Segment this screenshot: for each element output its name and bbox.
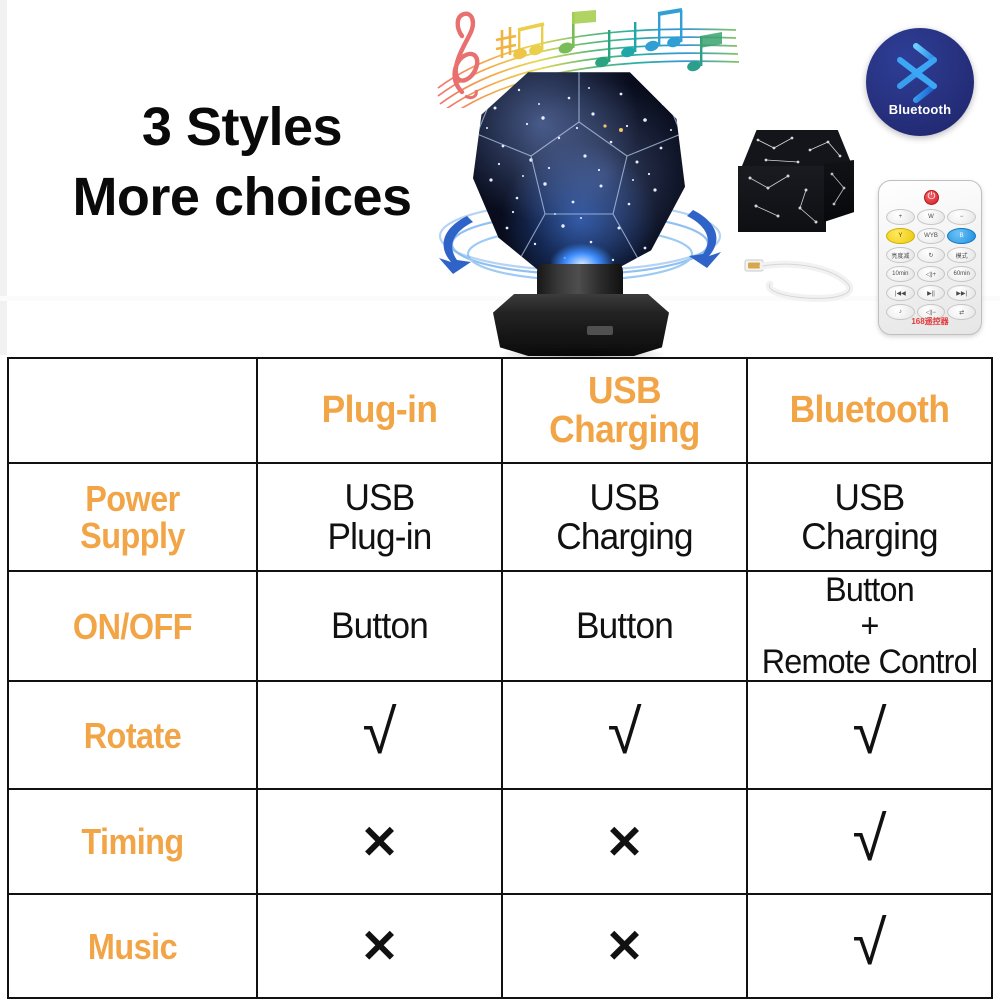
hero-section: 3 Styles More choices: [0, 0, 1000, 357]
projector-usb-port: [587, 326, 613, 335]
table-header-row: Plug-in USB Charging Bluetooth: [8, 358, 992, 463]
value-cell: Button: [257, 571, 502, 681]
remote-button: 亮度减: [886, 247, 915, 263]
value-cell: USB Charging: [747, 463, 992, 571]
check-mark-icon: √: [362, 702, 396, 764]
header-cell-blank: [8, 358, 257, 463]
cross-mark-icon: ✕: [360, 923, 399, 969]
star-projector-lamp: [455, 68, 705, 358]
remote-button-grid: + W − Y WYB B 亮度减 ↻ 模式 10min ◁)+ 60min |…: [886, 209, 976, 320]
remote-button: ◁)+: [917, 266, 946, 282]
remote-button: 60min: [947, 266, 976, 282]
check-mark-icon: √: [852, 809, 886, 871]
remote-button: |◀◀: [886, 285, 915, 301]
remote-button: ▶▶|: [947, 285, 976, 301]
remote-button: ↻: [917, 247, 946, 263]
headline-line-1: 3 Styles: [52, 96, 432, 160]
value-text: Button: [264, 606, 495, 645]
remote-button: Y: [886, 228, 915, 244]
remote-button: +: [886, 209, 915, 225]
header-cell-bluetooth: Bluetooth: [747, 358, 992, 463]
value-cell: Button: [502, 571, 747, 681]
table-row: Power Supply USB Plug-in USB Charging US…: [8, 463, 992, 571]
header-label: Bluetooth: [757, 391, 983, 430]
remote-model-label: 168遥控器: [879, 316, 981, 327]
value-text: USB Charging: [509, 478, 740, 556]
power-icon: [924, 190, 939, 205]
cross-mark-icon: ✕: [605, 923, 644, 969]
value-cell: ✕: [502, 894, 747, 998]
feature-label: Timing: [21, 823, 243, 860]
value-cell: Button + Remote Control: [747, 571, 992, 681]
feature-cell: Power Supply: [8, 463, 257, 571]
value-cell: ✕: [257, 894, 502, 998]
cross-mark-icon: ✕: [360, 819, 399, 865]
value-cell: √: [502, 681, 747, 789]
value-text: USB Charging: [754, 478, 985, 556]
page-title: 3 Styles More choices: [52, 96, 432, 229]
value-cell: √: [747, 789, 992, 894]
feature-label: Music: [21, 928, 243, 965]
header-cell-usb-charging: USB Charging: [502, 358, 747, 463]
value-text: USB Plug-in: [264, 478, 495, 556]
remote-button: −: [947, 209, 976, 225]
bluetooth-badge-label: Bluetooth: [866, 102, 974, 117]
headline-line-2: More choices: [52, 166, 432, 230]
value-cell: √: [747, 681, 992, 789]
check-mark-icon: √: [852, 702, 886, 764]
product-comparison-page: 3 Styles More choices: [0, 0, 1000, 1000]
value-cell: ✕: [257, 789, 502, 894]
projector-base: [493, 294, 669, 356]
remote-button: W: [917, 209, 946, 225]
feature-label: Rotate: [21, 717, 243, 754]
value-cell: USB Charging: [502, 463, 747, 571]
bluetooth-badge: Bluetooth: [866, 28, 974, 136]
feature-cell: Rotate: [8, 681, 257, 789]
header-label: USB Charging: [512, 372, 738, 450]
feature-cell: ON/OFF: [8, 571, 257, 681]
check-mark-icon: √: [852, 913, 886, 975]
usb-cable-icon: [744, 248, 866, 304]
cross-mark-icon: ✕: [605, 819, 644, 865]
remote-control: + W − Y WYB B 亮度减 ↻ 模式 10min ◁)+ 60min |…: [878, 180, 982, 335]
value-cell: USB Plug-in: [257, 463, 502, 571]
check-mark-icon: √: [607, 702, 641, 764]
value-cell: √: [257, 681, 502, 789]
feature-label: Power Supply: [21, 480, 243, 554]
feature-cell: Timing: [8, 789, 257, 894]
gift-box-icon: [736, 130, 856, 238]
remote-button: 10min: [886, 266, 915, 282]
remote-button: 模式: [947, 247, 976, 263]
bluetooth-rune-icon: [894, 42, 946, 104]
feature-cell: Music: [8, 894, 257, 998]
table-row: Timing ✕ ✕ √: [8, 789, 992, 894]
header-label: Plug-in: [267, 391, 493, 430]
value-cell: √: [747, 894, 992, 998]
value-text: Button: [509, 606, 740, 645]
remote-button: ▶||: [917, 285, 946, 301]
header-cell-plug-in: Plug-in: [257, 358, 502, 463]
value-text: Button + Remote Control: [754, 572, 985, 680]
table-row: Rotate √ √ √: [8, 681, 992, 789]
value-cell: ✕: [502, 789, 747, 894]
remote-button: B: [947, 228, 976, 244]
feature-label: ON/OFF: [21, 608, 243, 645]
remote-button: WYB: [917, 228, 946, 244]
table-row: ON/OFF Button Button Button + Remote Con…: [8, 571, 992, 681]
table-row: Music ✕ ✕ √: [8, 894, 992, 998]
feature-comparison-table: Plug-in USB Charging Bluetooth Power Sup…: [7, 357, 993, 999]
